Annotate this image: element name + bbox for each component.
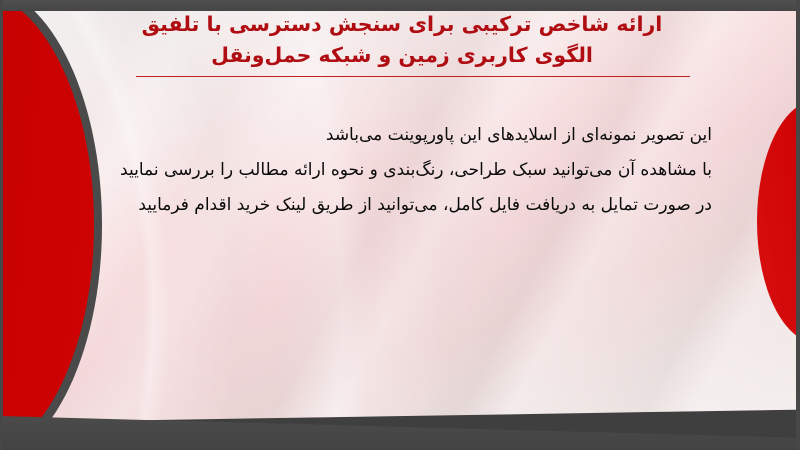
presentation-slide: ارائه شاخص ترکیبی برای سنجش دسترسی با تل… <box>0 0 800 450</box>
body-line-3: در صورت تمایل به دریافت فایل کامل، می‌تو… <box>86 188 712 223</box>
slide-body-text: این تصویر نمونه‌ای از اسلایدهای این پاور… <box>86 118 712 223</box>
left-edge-band <box>0 0 3 450</box>
body-line-1: این تصویر نمونه‌ای از اسلایدهای این پاور… <box>86 118 712 153</box>
slide-title: ارائه شاخص ترکیبی برای سنجش دسترسی با تل… <box>92 9 712 71</box>
title-line-2: الگوی کاربری زمین و شبکه حمل‌ونقل <box>92 40 712 71</box>
top-dark-band <box>0 0 800 11</box>
title-underline-rule <box>136 76 690 77</box>
right-edge-band <box>796 0 800 450</box>
title-line-1: ارائه شاخص ترکیبی برای سنجش دسترسی با تل… <box>92 9 712 40</box>
body-line-2: با مشاهده آن می‌توانید سبک طراحی، رنگ‌بن… <box>86 153 712 188</box>
